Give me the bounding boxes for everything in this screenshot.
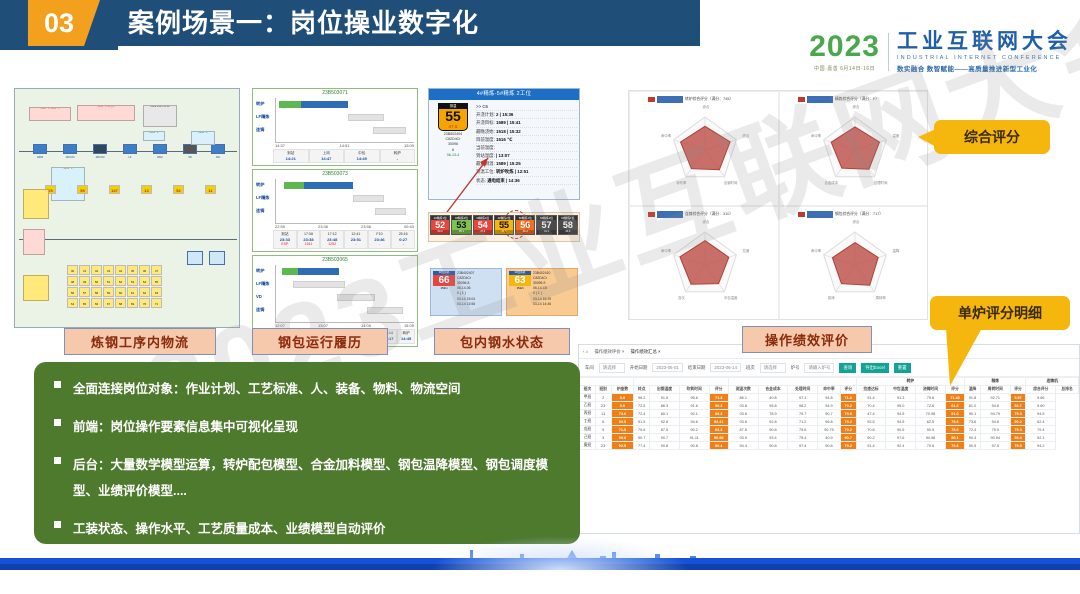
table-cell: 94.2 bbox=[1026, 442, 1056, 450]
grid-column-header[interactable]: 班次 bbox=[580, 386, 596, 394]
radar-axis-label: 综合 bbox=[693, 219, 719, 224]
grid-column-header[interactable]: 评分 bbox=[1010, 386, 1026, 394]
flow-slot-cell[interactable]: 60 bbox=[115, 287, 126, 297]
flow-tundish[interactable] bbox=[209, 251, 225, 265]
table-cell: 79.3 bbox=[1010, 410, 1026, 418]
grid-column-header[interactable]: 浇铸时间 bbox=[916, 386, 946, 394]
flow-slot-cell[interactable]: 71 bbox=[151, 298, 162, 308]
gantt-bar[interactable] bbox=[284, 182, 303, 189]
table-cell: 70.2 bbox=[840, 426, 856, 434]
flow-slot-cell[interactable]: 43 bbox=[103, 265, 114, 275]
ladle-position-number: 57 bbox=[537, 220, 555, 230]
ladle-position-temp: 04.6 bbox=[431, 230, 449, 234]
gantt-chart[interactable]: 23B503071转炉LF精炼连铸14:3714:5115:09到站14:21上… bbox=[252, 88, 418, 166]
radar-axis-label: 综合 bbox=[693, 104, 719, 109]
table-cell: 92.1 bbox=[679, 410, 709, 418]
table-cell: 91.4 bbox=[856, 442, 886, 450]
grid-column-header[interactable]: 评分 bbox=[709, 386, 728, 394]
table-cell: 90.8 bbox=[758, 442, 788, 450]
gantt-row-label: LF精炼 bbox=[256, 114, 270, 120]
table-cell: 90.2 bbox=[679, 426, 709, 434]
table-cell: 40.8 bbox=[758, 394, 788, 402]
radar-axis-label: 综合 bbox=[843, 104, 869, 109]
table-cell: 90.94 bbox=[980, 434, 1010, 442]
gantt-chart[interactable]: 23B503073转炉LF精炼连铸22:5523:3623:5600:43到站2… bbox=[252, 169, 418, 252]
flow-slot-cell[interactable]: 61 bbox=[127, 287, 138, 297]
gantt-cell-time: 14:49 bbox=[345, 156, 379, 161]
table-cell: 94.6 bbox=[679, 418, 709, 426]
radar-legend: 连铸综合评分（满分：310） bbox=[630, 207, 778, 218]
flow-slot-cell[interactable]: 63 bbox=[151, 287, 162, 297]
table-tab[interactable]: 操作绩效评价 × bbox=[594, 349, 624, 355]
chip-steelmaking-logistics: 炼钢工序内物流 bbox=[64, 328, 216, 355]
flow-slot-cell[interactable]: 70 bbox=[139, 298, 150, 308]
gantt-ticks: 22:5523:3623:5600:43 bbox=[275, 224, 414, 229]
radar-axis-label: 烘烤 bbox=[818, 295, 844, 300]
grid-column-header[interactable]: 温降 bbox=[965, 386, 981, 394]
grid-column-header[interactable]: 评分 bbox=[945, 386, 964, 394]
table-cell: 79.4 bbox=[1026, 426, 1056, 434]
table-cell: 丙班 bbox=[580, 410, 596, 418]
table-cell: 97.1 bbox=[788, 394, 818, 402]
table-cell: 3 bbox=[595, 434, 611, 442]
grid-column-header[interactable]: 综合评分 bbox=[1026, 386, 1056, 394]
ladle-position-temp: 05.1 bbox=[452, 230, 470, 234]
ladle-position-card[interactable]: 5#精炼2位5744.1 bbox=[536, 215, 556, 235]
flow-vessel-number: 11 bbox=[205, 185, 216, 194]
table-cell: 93.4 bbox=[758, 434, 788, 442]
radar-plot bbox=[630, 106, 780, 205]
gantt-cell[interactable]: 上岗14:47 bbox=[309, 149, 345, 163]
table-cell: 90.1 bbox=[965, 410, 981, 418]
grid-column-header[interactable]: 合金成本 bbox=[758, 386, 788, 394]
flow-tundish[interactable] bbox=[187, 251, 203, 265]
caster-detail-lines: 23B402407C82D4Cr30096-806-14-060 ( 1 )03… bbox=[455, 271, 499, 307]
table-cell: 91.6 bbox=[679, 402, 709, 410]
flow-slot-cell[interactable]: 50 bbox=[91, 276, 102, 286]
bullet-marker bbox=[54, 457, 61, 464]
flow-slot-cell[interactable]: 41 bbox=[79, 265, 90, 275]
flow-vessel-label: RH bbox=[208, 157, 228, 160]
legend-swatch-target bbox=[657, 96, 683, 103]
flow-slot-cell[interactable]: 45 bbox=[127, 265, 138, 275]
heat-card-row-key: 开浇计划: bbox=[476, 112, 496, 117]
heat-card-row: 开浇目标: 1589 | 15:41 bbox=[476, 119, 577, 127]
table-cell: 87.5 bbox=[728, 426, 758, 434]
gantt-tick: 15:09 bbox=[404, 323, 414, 328]
table-cell: 90.2 bbox=[1010, 418, 1026, 426]
grid-column-header[interactable]: 炉座数 bbox=[611, 386, 634, 394]
gantt-bar[interactable] bbox=[353, 195, 383, 202]
gantt-cell-note: 1252 bbox=[321, 242, 343, 247]
caster-ladle-number: 63 bbox=[509, 275, 531, 286]
flow-slot-cell[interactable]: 55 bbox=[151, 276, 162, 286]
gantt-bar[interactable] bbox=[293, 281, 345, 288]
table-cell: 己班 bbox=[580, 434, 596, 442]
flow-vessel[interactable] bbox=[123, 144, 137, 154]
flow-slot-cell[interactable]: 40 bbox=[67, 265, 78, 275]
ladle-position-card[interactable]: 3#精炼2位5305.1 bbox=[451, 215, 471, 235]
gantt-cell[interactable]: 25:160:27- bbox=[391, 230, 415, 249]
gantt-title: 23B503071 bbox=[253, 89, 417, 96]
heat-card-row-key: 开浇目标: bbox=[476, 120, 496, 125]
filter-field[interactable]: 请选择 bbox=[599, 363, 625, 373]
flow-vessel-number: 13 bbox=[141, 185, 152, 194]
caster-status-cards[interactable]: 3#连铸机661521t23B402407C82D4Cr30096-806-14… bbox=[428, 262, 580, 324]
chip-ladle-history: 钢包运行履历 bbox=[252, 328, 388, 355]
ladle-number: 55 bbox=[439, 109, 467, 124]
ladle-position-temp: 43.9 bbox=[559, 230, 577, 234]
table-cell: 9.66 bbox=[1026, 394, 1056, 402]
caster-status-card[interactable]: 2#连铸机631522t23B402410C82D4Cr30096-906-14… bbox=[506, 268, 578, 316]
bullet-text: 全面连接岗位对象：作业计划、工艺标准、人、装备、物料、物流空间 bbox=[73, 376, 461, 402]
table-cell: 91.8 bbox=[965, 394, 981, 402]
table-cell: 72.6 bbox=[916, 402, 946, 410]
table-cell: 79.6 bbox=[634, 426, 650, 434]
gantt-cell[interactable]: 中包14:49 bbox=[344, 149, 380, 163]
flow-vessel-label: 3#LF bbox=[150, 157, 170, 160]
ladle-position-number: 58 bbox=[559, 220, 577, 230]
slide-header: 03 案例场景一：岗位操业数字化 bbox=[0, 0, 700, 46]
radar-plot bbox=[780, 221, 928, 320]
table-cell: 70.98 bbox=[916, 410, 946, 418]
gantt-cell[interactable]: 到站23:33ESP bbox=[273, 230, 297, 249]
flow-vessel-number: 52 bbox=[173, 185, 184, 194]
gantt-cell[interactable]: 转炉14:45 bbox=[397, 329, 415, 343]
gantt-bar[interactable] bbox=[367, 307, 403, 314]
flow-rail bbox=[19, 239, 237, 240]
gantt-row-label: LF精炼 bbox=[256, 281, 270, 287]
legend-swatch-actual bbox=[798, 97, 805, 102]
gantt-cell-time: 14:21 bbox=[274, 156, 308, 161]
caster-detail-line: 03-14 13:56 bbox=[457, 302, 499, 307]
flow-slot-cell[interactable]: 57 bbox=[79, 287, 90, 297]
radar-chart[interactable]: 精炼综合评分（满分：F）综合温度处理时间合金成本命中率 bbox=[779, 91, 928, 206]
grid-column-header[interactable]: 命中率 bbox=[818, 386, 841, 394]
flow-slot-cell[interactable]: 42 bbox=[91, 265, 102, 275]
flow-slot-cell[interactable]: 59 bbox=[103, 287, 114, 297]
ladle-position-number: 54 bbox=[474, 220, 492, 230]
ladle-position-number: 53 bbox=[452, 220, 470, 230]
performance-grid[interactable]: 转炉精炼连铸机班次班别炉座数终点出钢温度吹氧时间评分测温次数合金成本处理时间命中… bbox=[579, 377, 1079, 450]
table-cell: 95.6 bbox=[679, 394, 709, 402]
table-grid-holder[interactable]: 转炉精炼连铸机班次班别炉座数终点出钢温度吹氧时间评分测温次数合金成本处理时间命中… bbox=[579, 377, 1079, 450]
table-row[interactable]: 戊班971.579.687.590.293.387.590.879.690.75… bbox=[580, 426, 1079, 434]
table-cell: 74.6 bbox=[611, 410, 634, 418]
flow-side-tag bbox=[23, 189, 49, 219]
filter-field[interactable]: 请选择 bbox=[760, 363, 786, 373]
heat-card-row: 开浇计划: 2 | 15:36 bbox=[476, 111, 577, 119]
legend-swatch-target bbox=[807, 211, 833, 218]
gantt-cell[interactable]: F1023:46- bbox=[368, 230, 392, 249]
table-cell: 71.40 bbox=[945, 394, 964, 402]
grid-column-header[interactable]: 吹氧时间 bbox=[679, 386, 709, 394]
ladle-history-screenshot[interactable]: 23B503071转炉LF精炼连铸14:3714:5115:09到站14:21上… bbox=[252, 88, 418, 328]
radar-axis-label: 命中率 bbox=[803, 133, 829, 138]
gantt-cells: 到站23:33ESP17:0823:38151117:1223:48125212… bbox=[273, 230, 415, 249]
table-cell: 92.1 bbox=[1026, 434, 1056, 442]
logo-slogan: 数实融合 数智赋能——高质量推进新型工业化 bbox=[897, 63, 1072, 73]
table-cell: 92.71 bbox=[980, 394, 1010, 402]
process-flow-screenshot[interactable]: 1#KR1#CCM2#CCMLF3#LFVDRH1580 ℃ 1562 ℃160… bbox=[14, 88, 240, 328]
radar-axis-label: 补吹率 bbox=[668, 180, 694, 185]
table-cell: 78.0 bbox=[945, 426, 964, 434]
grid-column-header[interactable]: 处理时间 bbox=[788, 386, 818, 394]
table-row[interactable]: 己班390.890.790.791.1190.9893.993.479.440.… bbox=[580, 434, 1079, 442]
table-cell: 90.4 bbox=[965, 434, 981, 442]
caster-detail-lines: 23B402410C82D4Cr30096-906-14-C60 ( 1 )03… bbox=[531, 271, 575, 307]
flow-slot-cell[interactable]: 53 bbox=[127, 276, 138, 286]
table-cell: 71.2 bbox=[840, 394, 856, 402]
table-cell: 92.5 bbox=[611, 442, 634, 450]
caster-weight: 1522t bbox=[509, 286, 531, 290]
table-cell: 79.6 bbox=[945, 442, 964, 450]
flow-slot-cell[interactable]: 69 bbox=[127, 298, 138, 308]
flow-vessel-label: 1#KR bbox=[30, 157, 50, 160]
grid-column-header[interactable]: 拉速达标 bbox=[856, 386, 886, 394]
radar-legend-label: 转炉综合评分（满分：745） bbox=[685, 97, 733, 102]
table-cell: 90.5 bbox=[886, 426, 916, 434]
gantt-bar[interactable] bbox=[282, 268, 299, 275]
radar-axis-label: 处理时间 bbox=[868, 180, 894, 185]
gantt-cell[interactable]: 17:1223:481252 bbox=[320, 230, 344, 249]
flow-slot-cell[interactable]: 44 bbox=[115, 265, 126, 275]
gantt-bar[interactable] bbox=[298, 268, 339, 275]
gantt-bar[interactable] bbox=[279, 101, 301, 108]
radar-axis-label: 中包温度 bbox=[718, 295, 744, 300]
flow-slot-cell[interactable]: 47 bbox=[151, 265, 162, 275]
process-flow-canvas: 1#KR1#CCM2#CCMLF3#LFVDRH1580 ℃ 1562 ℃160… bbox=[15, 89, 239, 327]
table-cell: 90.8 bbox=[758, 426, 788, 434]
flow-slot-cell[interactable]: 51 bbox=[103, 276, 114, 286]
table-cell: 90.4 bbox=[709, 442, 728, 450]
table-row[interactable]: 乙班230.072.586.391.690.393.895.898.294.97… bbox=[580, 402, 1079, 410]
table-cell: 94.5 bbox=[886, 418, 916, 426]
logo-divider bbox=[888, 33, 889, 71]
flow-vessel-label: VD bbox=[180, 157, 200, 160]
gantt-bar[interactable] bbox=[348, 114, 384, 121]
score-radar-charts[interactable]: 转炉综合评分（满分：745）综合终点出钢时间补吹率命中率精炼综合评分（满分：F）… bbox=[628, 90, 928, 320]
table-action-button[interactable]: 导出Excel bbox=[861, 363, 889, 373]
ladle-position-card[interactable]: 2#精炼1位5204.6 bbox=[430, 215, 450, 235]
grid-column-header[interactable]: 终点 bbox=[634, 386, 650, 394]
caster-status-card[interactable]: 3#连铸机661521t23B402407C82D4Cr30096-806-14… bbox=[430, 268, 502, 316]
gantt-tick: 00:43 bbox=[404, 224, 414, 229]
gantt-cell-time: 14:47 bbox=[310, 156, 344, 161]
table-cell: 90.8 bbox=[611, 434, 634, 442]
radar-chart[interactable]: 转炉综合评分（满分：745）综合终点出钢时间补吹率命中率 bbox=[629, 91, 779, 206]
table-row[interactable]: 丁班680.591.592.894.692.4193.692.871.296.8… bbox=[580, 418, 1079, 426]
radar-legend-label: 钢包综合评分（满分：717） bbox=[835, 212, 883, 217]
table-cell: 61.0 bbox=[965, 402, 981, 410]
gantt-bar[interactable] bbox=[304, 182, 354, 189]
flow-slot-cell[interactable]: 46 bbox=[139, 265, 150, 275]
flow-info-tag: 1582 ℃ bbox=[191, 131, 215, 145]
conference-logo: 2023 中国·嘉善 6月14日-16日 工业互联网大会 INDUSTRIAL … bbox=[809, 28, 1072, 76]
flow-slot-cell[interactable]: 49 bbox=[79, 276, 90, 286]
flow-vessel[interactable] bbox=[153, 144, 167, 154]
filter-field[interactable]: 请输入炉号 bbox=[804, 363, 834, 373]
table-cell: 丁班 bbox=[580, 418, 596, 426]
radar-plot bbox=[630, 221, 780, 320]
grid-column-header[interactable]: 出钢温度 bbox=[650, 386, 680, 394]
flow-slot-cell[interactable]: 56 bbox=[67, 287, 78, 297]
bullet-item: 全面连接岗位对象：作业计划、工艺标准、人、装备、物料、物流空间 bbox=[52, 376, 562, 402]
flow-vessel[interactable] bbox=[183, 144, 197, 154]
table-cell: 94.8 bbox=[818, 394, 841, 402]
table-cell: 94.6 bbox=[980, 402, 1010, 410]
table-cell: 79.9 bbox=[980, 426, 1010, 434]
footer-glow bbox=[430, 536, 690, 570]
flow-slot-cell[interactable]: 62 bbox=[139, 287, 150, 297]
table-cell: 93.6 bbox=[728, 418, 758, 426]
table-cell: 91.4 bbox=[856, 394, 886, 402]
table-cell: 71.2 bbox=[788, 418, 818, 426]
gantt-bar[interactable] bbox=[337, 294, 376, 301]
gantt-cell-time: 14:45 bbox=[398, 336, 414, 341]
table-cell: 90.8 bbox=[679, 442, 709, 450]
table-cell: 80.5 bbox=[611, 418, 634, 426]
heat-card-row-value: 1518 | 15:32 bbox=[496, 129, 521, 134]
gantt-cell[interactable]: 转炉- bbox=[380, 149, 416, 163]
gantt-title: 23B503065 bbox=[253, 256, 417, 263]
table-cell: 86.1 bbox=[728, 394, 758, 402]
flow-slot-cell[interactable]: 67 bbox=[103, 298, 114, 308]
ladle-position-card[interactable]: 6#精炼1位5843.9 bbox=[558, 215, 578, 235]
summary-bullets-box: 全面连接岗位对象：作业计划、工艺标准、人、装备、物料、物流空间前端：岗位操作要素… bbox=[34, 362, 580, 544]
flow-slot-cell[interactable]: 64 bbox=[67, 298, 78, 308]
filter-label: 结束日期 bbox=[688, 365, 706, 371]
table-cell: 90.7 bbox=[818, 410, 841, 418]
flow-slot-cell[interactable]: 68 bbox=[115, 298, 126, 308]
flow-slot-cell[interactable]: 66 bbox=[91, 298, 102, 308]
table-tab[interactable]: 操作绩效汇总 × bbox=[630, 349, 660, 355]
gantt-cell-note: - bbox=[345, 242, 367, 247]
table-cell: 72.4 bbox=[965, 426, 981, 434]
flow-info-tag: 1603 ℃ 05分1 bbox=[77, 105, 135, 121]
grid-column-header[interactable]: 班别 bbox=[595, 386, 611, 394]
table-cell: 72.5 bbox=[634, 402, 650, 410]
flow-slot-cell[interactable]: 52 bbox=[115, 276, 126, 286]
grid-group-header bbox=[580, 378, 634, 386]
flow-side-tag bbox=[23, 229, 45, 255]
filter-field[interactable]: 2023-06-14 bbox=[710, 363, 740, 372]
table-cell: 92.7 bbox=[1010, 402, 1026, 410]
table-cell: 94.6 bbox=[980, 418, 1010, 426]
flow-vessel[interactable] bbox=[63, 144, 77, 154]
radar-chart[interactable]: 连铸综合评分（满分：310）综合拉速中包温度浇次命中率 bbox=[629, 206, 779, 320]
table-cell: 90.3 bbox=[709, 402, 728, 410]
table-cell: 90.8 bbox=[650, 442, 680, 450]
table-cell: 79.2 bbox=[840, 442, 856, 450]
table-row[interactable]: 丙班1374.672.480.192.189.393.678.979.790.7… bbox=[580, 410, 1079, 418]
ladle-position-card[interactable]: 4#精炼1位5447.2 bbox=[473, 215, 493, 235]
table-cell: 87.5 bbox=[650, 426, 680, 434]
table-cell: 90.7 bbox=[840, 434, 856, 442]
logo-name-cn: 工业互联网大会 bbox=[897, 31, 1072, 53]
gantt-row-label: 连铸 bbox=[256, 307, 264, 313]
flow-vessel-label: 1#CCM bbox=[60, 157, 80, 160]
radar-axis-label: 命中率 bbox=[803, 248, 829, 253]
table-cell: 91.0 bbox=[945, 410, 964, 418]
gantt-cell[interactable]: 12:4123:51- bbox=[344, 230, 368, 249]
table-action-button[interactable]: 查询 bbox=[839, 363, 856, 373]
flow-vessel[interactable] bbox=[33, 144, 47, 154]
callout-heat-score-detail-tail bbox=[946, 328, 1006, 386]
table-cell: 62.4 bbox=[1026, 418, 1056, 426]
table-cell: 91.5 bbox=[634, 418, 650, 426]
filter-field[interactable]: 2023-06-01 bbox=[652, 363, 682, 372]
table-cell: 2 bbox=[595, 394, 611, 402]
table-cell: 0.0 bbox=[611, 394, 634, 402]
legend-swatch-actual bbox=[648, 97, 655, 102]
flow-slot-cell[interactable]: 54 bbox=[139, 276, 150, 286]
table-cell: 77.4 bbox=[634, 442, 650, 450]
table-cell: 13 bbox=[595, 410, 611, 418]
table-cell: 庚班 bbox=[580, 442, 596, 450]
legend-swatch-actual bbox=[648, 212, 655, 217]
flow-slot-cell[interactable]: 58 bbox=[91, 287, 102, 297]
grid-column-header[interactable]: 评分 bbox=[840, 386, 856, 394]
flow-vessel[interactable] bbox=[93, 144, 107, 154]
grid-column-header[interactable]: 总排名 bbox=[1056, 386, 1079, 394]
flow-slot-cell[interactable]: 65 bbox=[79, 298, 90, 308]
table-cell: 71.3 bbox=[709, 394, 728, 402]
table-cell: 93.6 bbox=[728, 410, 758, 418]
logo-year: 2023 bbox=[809, 32, 880, 62]
table-cell: 甲班 bbox=[580, 394, 596, 402]
gantt-cell[interactable]: 到站14:21 bbox=[273, 149, 309, 163]
ladle-position-number: 52 bbox=[431, 220, 449, 230]
table-cell: 90.8 bbox=[818, 442, 841, 450]
callout-overall-score-tail bbox=[918, 128, 938, 150]
flow-side-tag bbox=[23, 275, 49, 301]
gantt-row-label: 连铸 bbox=[256, 127, 264, 133]
grid-column-header[interactable]: 测温次数 bbox=[728, 386, 758, 394]
header-underline bbox=[0, 46, 118, 50]
flow-slot-cell[interactable]: 48 bbox=[67, 276, 78, 286]
grid-column-header[interactable]: 周转时间 bbox=[980, 386, 1010, 394]
grid-column-header[interactable]: 中包温度 bbox=[886, 386, 916, 394]
table-cell: 47.4 bbox=[856, 410, 886, 418]
table-row[interactable]: 甲班20.096.291.595.671.386.140.897.194.871… bbox=[580, 394, 1079, 402]
gantt-cell[interactable]: 17:0823:381511 bbox=[297, 230, 321, 249]
radar-axis-label: 命中率 bbox=[653, 248, 679, 253]
gantt-bar[interactable] bbox=[301, 101, 348, 108]
table-cell: 0.0 bbox=[611, 402, 634, 410]
gantt-tick: 15:09 bbox=[404, 143, 414, 148]
bullet-marker bbox=[54, 419, 61, 426]
radar-chart[interactable]: 钢包综合评分（满分：717）综合温降周转率烘烤命中率 bbox=[779, 206, 928, 320]
gantt-bar[interactable] bbox=[375, 208, 405, 215]
flow-vessel-label: LF bbox=[120, 157, 140, 160]
table-cell: 70.6 bbox=[856, 426, 886, 434]
table-cell: 93.9 bbox=[728, 434, 758, 442]
flow-vessel-number: 55 bbox=[77, 185, 88, 194]
table-cell: 9.60 bbox=[1026, 402, 1056, 410]
table-row[interactable]: 庚班2392.577.490.890.890.494.490.897.490.8… bbox=[580, 442, 1079, 450]
table-cell: 79.6 bbox=[945, 418, 964, 426]
table-action-button[interactable]: 重置 bbox=[894, 363, 911, 373]
caster-ladle-graphic: 3#连铸机661521t bbox=[433, 271, 455, 307]
gantt-bar[interactable] bbox=[373, 127, 406, 134]
table-back-icon[interactable]: ‹ ⌂ bbox=[583, 349, 588, 354]
gantt-row-label: 连铸 bbox=[256, 208, 264, 214]
table-cell: 97.4 bbox=[788, 442, 818, 450]
radar-axis-label: 周转率 bbox=[868, 295, 894, 300]
flow-vessel[interactable] bbox=[211, 144, 225, 154]
table-cell: 86.3 bbox=[650, 402, 680, 410]
